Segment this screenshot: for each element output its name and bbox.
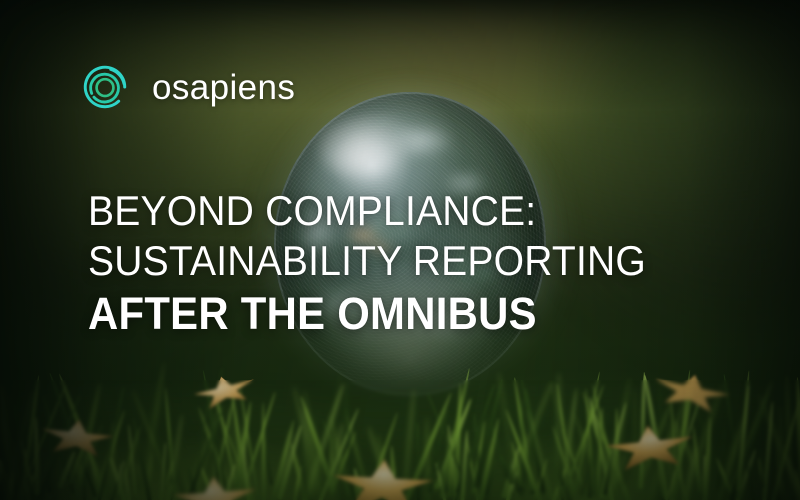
- headline-line-2: SUSTAINABILITY REPORTING: [88, 236, 646, 286]
- headline-line-3: AFTER THE OMNIBUS: [88, 286, 646, 342]
- hero-banner: osapiens BEYOND COMPLIANCE: SUSTAINABILI…: [0, 0, 800, 500]
- brand-logo[interactable]: osapiens: [76, 58, 295, 116]
- brand-wordmark: osapiens: [152, 70, 295, 105]
- headline: BEYOND COMPLIANCE: SUSTAINABILITY REPORT…: [88, 186, 688, 342]
- headline-line-1: BEYOND COMPLIANCE:: [88, 186, 646, 236]
- osapiens-spiral-logo-icon: [76, 58, 134, 116]
